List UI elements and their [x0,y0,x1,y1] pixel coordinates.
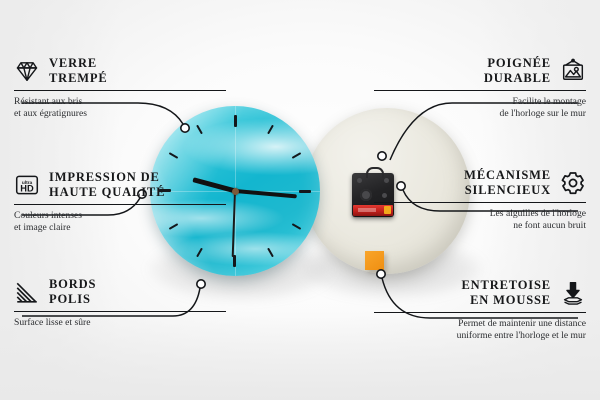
feature-header: ENTRETOISE EN MOUSSE [374,278,586,307]
feature-header: MÉCANISME SILENCIEUX [374,168,586,197]
foam-spacer [365,251,384,270]
feature-description: Résistant aux bris et aux égratignures [14,96,226,119]
feature-divider [374,312,586,313]
feature-title: MÉCANISME SILENCIEUX [464,168,551,197]
feature-impression-haute-qualite: ultra HD IMPRESSION DE HAUTE QUALITÉ Cou… [14,170,226,233]
feature-desc-line2: et image claire [14,222,226,234]
feature-verre-trempe: VERRE TREMPÉ Résistant aux bris et aux é… [14,56,226,119]
infographic-canvas: VERRE TREMPÉ Résistant aux bris et aux é… [0,0,600,400]
feature-mecanisme-silencieux: MÉCANISME SILENCIEUX Les aiguilles de l'… [374,168,586,231]
feature-desc-line1: Surface lisse et sûre [14,317,226,329]
feature-title: IMPRESSION DE HAUTE QUALITÉ [49,170,165,199]
feature-desc-line2: ne font aucun bruit [374,220,586,232]
feature-header: VERRE TREMPÉ [14,56,226,85]
feature-description: Facilite le montage de l'horloge sur le … [374,96,586,119]
feature-title: ENTRETOISE EN MOUSSE [461,278,551,307]
ultra-hd-icon: ultra HD [14,172,40,198]
feature-desc-line1: Permet de maintenir une distance [374,318,586,330]
feature-divider [14,90,226,91]
picture-frame-icon [560,58,586,84]
gear-icon [560,170,586,196]
feature-title: VERRE TREMPÉ [49,56,108,85]
feature-header: ultra HD IMPRESSION DE HAUTE QUALITÉ [14,170,226,199]
feature-description: Les aiguilles de l'horloge ne font aucun… [374,208,586,231]
mechanism-dial [360,189,372,201]
feature-title-line2: POLIS [49,292,96,307]
feature-divider [374,90,586,91]
feature-header: BORDS POLIS [14,277,226,306]
feature-desc-line2: uniforme entre l'horloge et le mur [374,330,586,342]
spacer-down-arrow-icon [560,280,586,306]
feature-desc-line2: et aux égratignures [14,108,226,120]
mechanism-screw-left [357,178,362,183]
feature-title-line2: TREMPÉ [49,71,108,86]
feature-desc-line1: Couleurs intenses [14,210,226,222]
feature-poignee-durable: POIGNÉE DURABLE Facilite le montage de l… [374,56,586,119]
ultra-hd-icon-large-text: HD [20,183,34,193]
feature-desc-line2: de l'horloge sur le mur [374,108,586,120]
feature-description: Permet de maintenir une distance uniform… [374,318,586,341]
feature-desc-line1: Résistant aux bris [14,96,226,108]
polished-edge-icon [14,279,40,305]
feature-title-line2: SILENCIEUX [464,183,551,198]
feature-description: Couleurs intenses et image claire [14,210,226,233]
feature-bords-polis: BORDS POLIS Surface lisse et sûre [14,277,226,329]
feature-divider [14,204,226,205]
feature-header: POIGNÉE DURABLE [374,56,586,85]
feature-desc-line1: Facilite le montage [374,96,586,108]
feature-desc-line1: Les aiguilles de l'horloge [374,208,586,220]
feature-divider [374,202,586,203]
feature-description: Surface lisse et sûre [14,317,226,329]
feature-title-line2: EN MOUSSE [461,293,551,308]
feature-title-line1: MÉCANISME [464,168,551,183]
feature-title-line2: HAUTE QUALITÉ [49,185,165,200]
clock-tick-0 [234,115,236,191]
clock-hand-cap [232,188,239,195]
feature-title-line1: ENTRETOISE [461,278,551,293]
feature-title-line1: VERRE [49,56,108,71]
feature-entretoise-en-mousse: ENTRETOISE EN MOUSSE Permet de maintenir… [374,278,586,341]
diamond-icon [14,58,40,84]
feature-title: BORDS POLIS [49,277,96,306]
feature-divider [14,311,226,312]
feature-title-line1: BORDS [49,277,96,292]
feature-title-line2: DURABLE [484,71,551,86]
feature-title: POIGNÉE DURABLE [484,56,551,85]
feature-title-line1: IMPRESSION DE [49,170,165,185]
feature-title-line1: POIGNÉE [484,56,551,71]
